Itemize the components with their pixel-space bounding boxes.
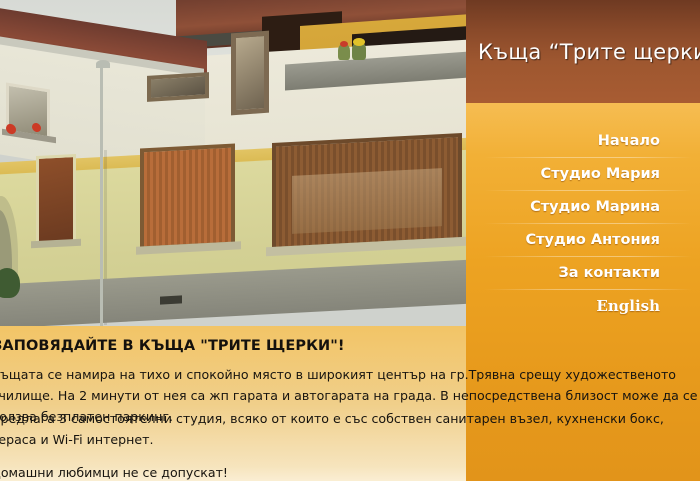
page-root: Къща “Трите щерки” Начало Студио Мария С… bbox=[0, 0, 700, 481]
nav-item-studio-marina[interactable]: Студио Марина bbox=[466, 191, 700, 224]
site-header: Къща “Трите щерки” bbox=[466, 0, 700, 103]
nav-item-label: English bbox=[596, 297, 660, 315]
site-title: Къща “Трите щерки” bbox=[478, 40, 700, 64]
nav-item-contacts[interactable]: За контакти bbox=[466, 257, 700, 290]
photo-flower-bloom-left bbox=[340, 41, 348, 47]
photo-flower-bloom-right bbox=[353, 38, 365, 46]
photo-downpipe bbox=[100, 62, 103, 326]
photo-window-lower-right-interior bbox=[292, 168, 442, 234]
photo-window-upper-center bbox=[231, 31, 269, 116]
content-paragraph-studios: Предлага 3 самостоятелни студия, всяко о… bbox=[0, 408, 700, 450]
nav-item-label: Студио Антония bbox=[526, 232, 660, 248]
nav-item-label: За контакти bbox=[558, 265, 660, 281]
nav-item-english[interactable]: English bbox=[466, 290, 700, 323]
photo-bush bbox=[0, 268, 20, 298]
photo-window-lower-center bbox=[140, 144, 235, 251]
nav-item-label: Начало bbox=[598, 133, 660, 149]
photo-window-upper-right bbox=[147, 72, 209, 102]
hero-photo bbox=[0, 0, 466, 326]
photo-downpipe-head bbox=[96, 60, 110, 68]
photo-window-lower-left bbox=[36, 154, 76, 246]
nav-item-label: Студио Марина bbox=[530, 199, 660, 215]
content-heading: ЗАПОВЯДАЙТЕ В КЪЩА "ТРИТЕ ЩЕРКИ"! bbox=[0, 338, 345, 354]
content-paragraph-pets: Домашни любимци не се допускат! bbox=[0, 462, 700, 481]
nav-item-studio-antonia[interactable]: Студио Антония bbox=[466, 224, 700, 257]
photo-vent bbox=[160, 295, 182, 304]
nav-item-label: Студио Мария bbox=[541, 166, 660, 182]
nav-item-nachalo[interactable]: Начало bbox=[466, 125, 700, 158]
content-area: ЗАПОВЯДАЙТЕ В КЪЩА "ТРИТЕ ЩЕРКИ"! Къщата… bbox=[0, 326, 700, 481]
nav-item-studio-maria[interactable]: Студио Мария bbox=[466, 158, 700, 191]
